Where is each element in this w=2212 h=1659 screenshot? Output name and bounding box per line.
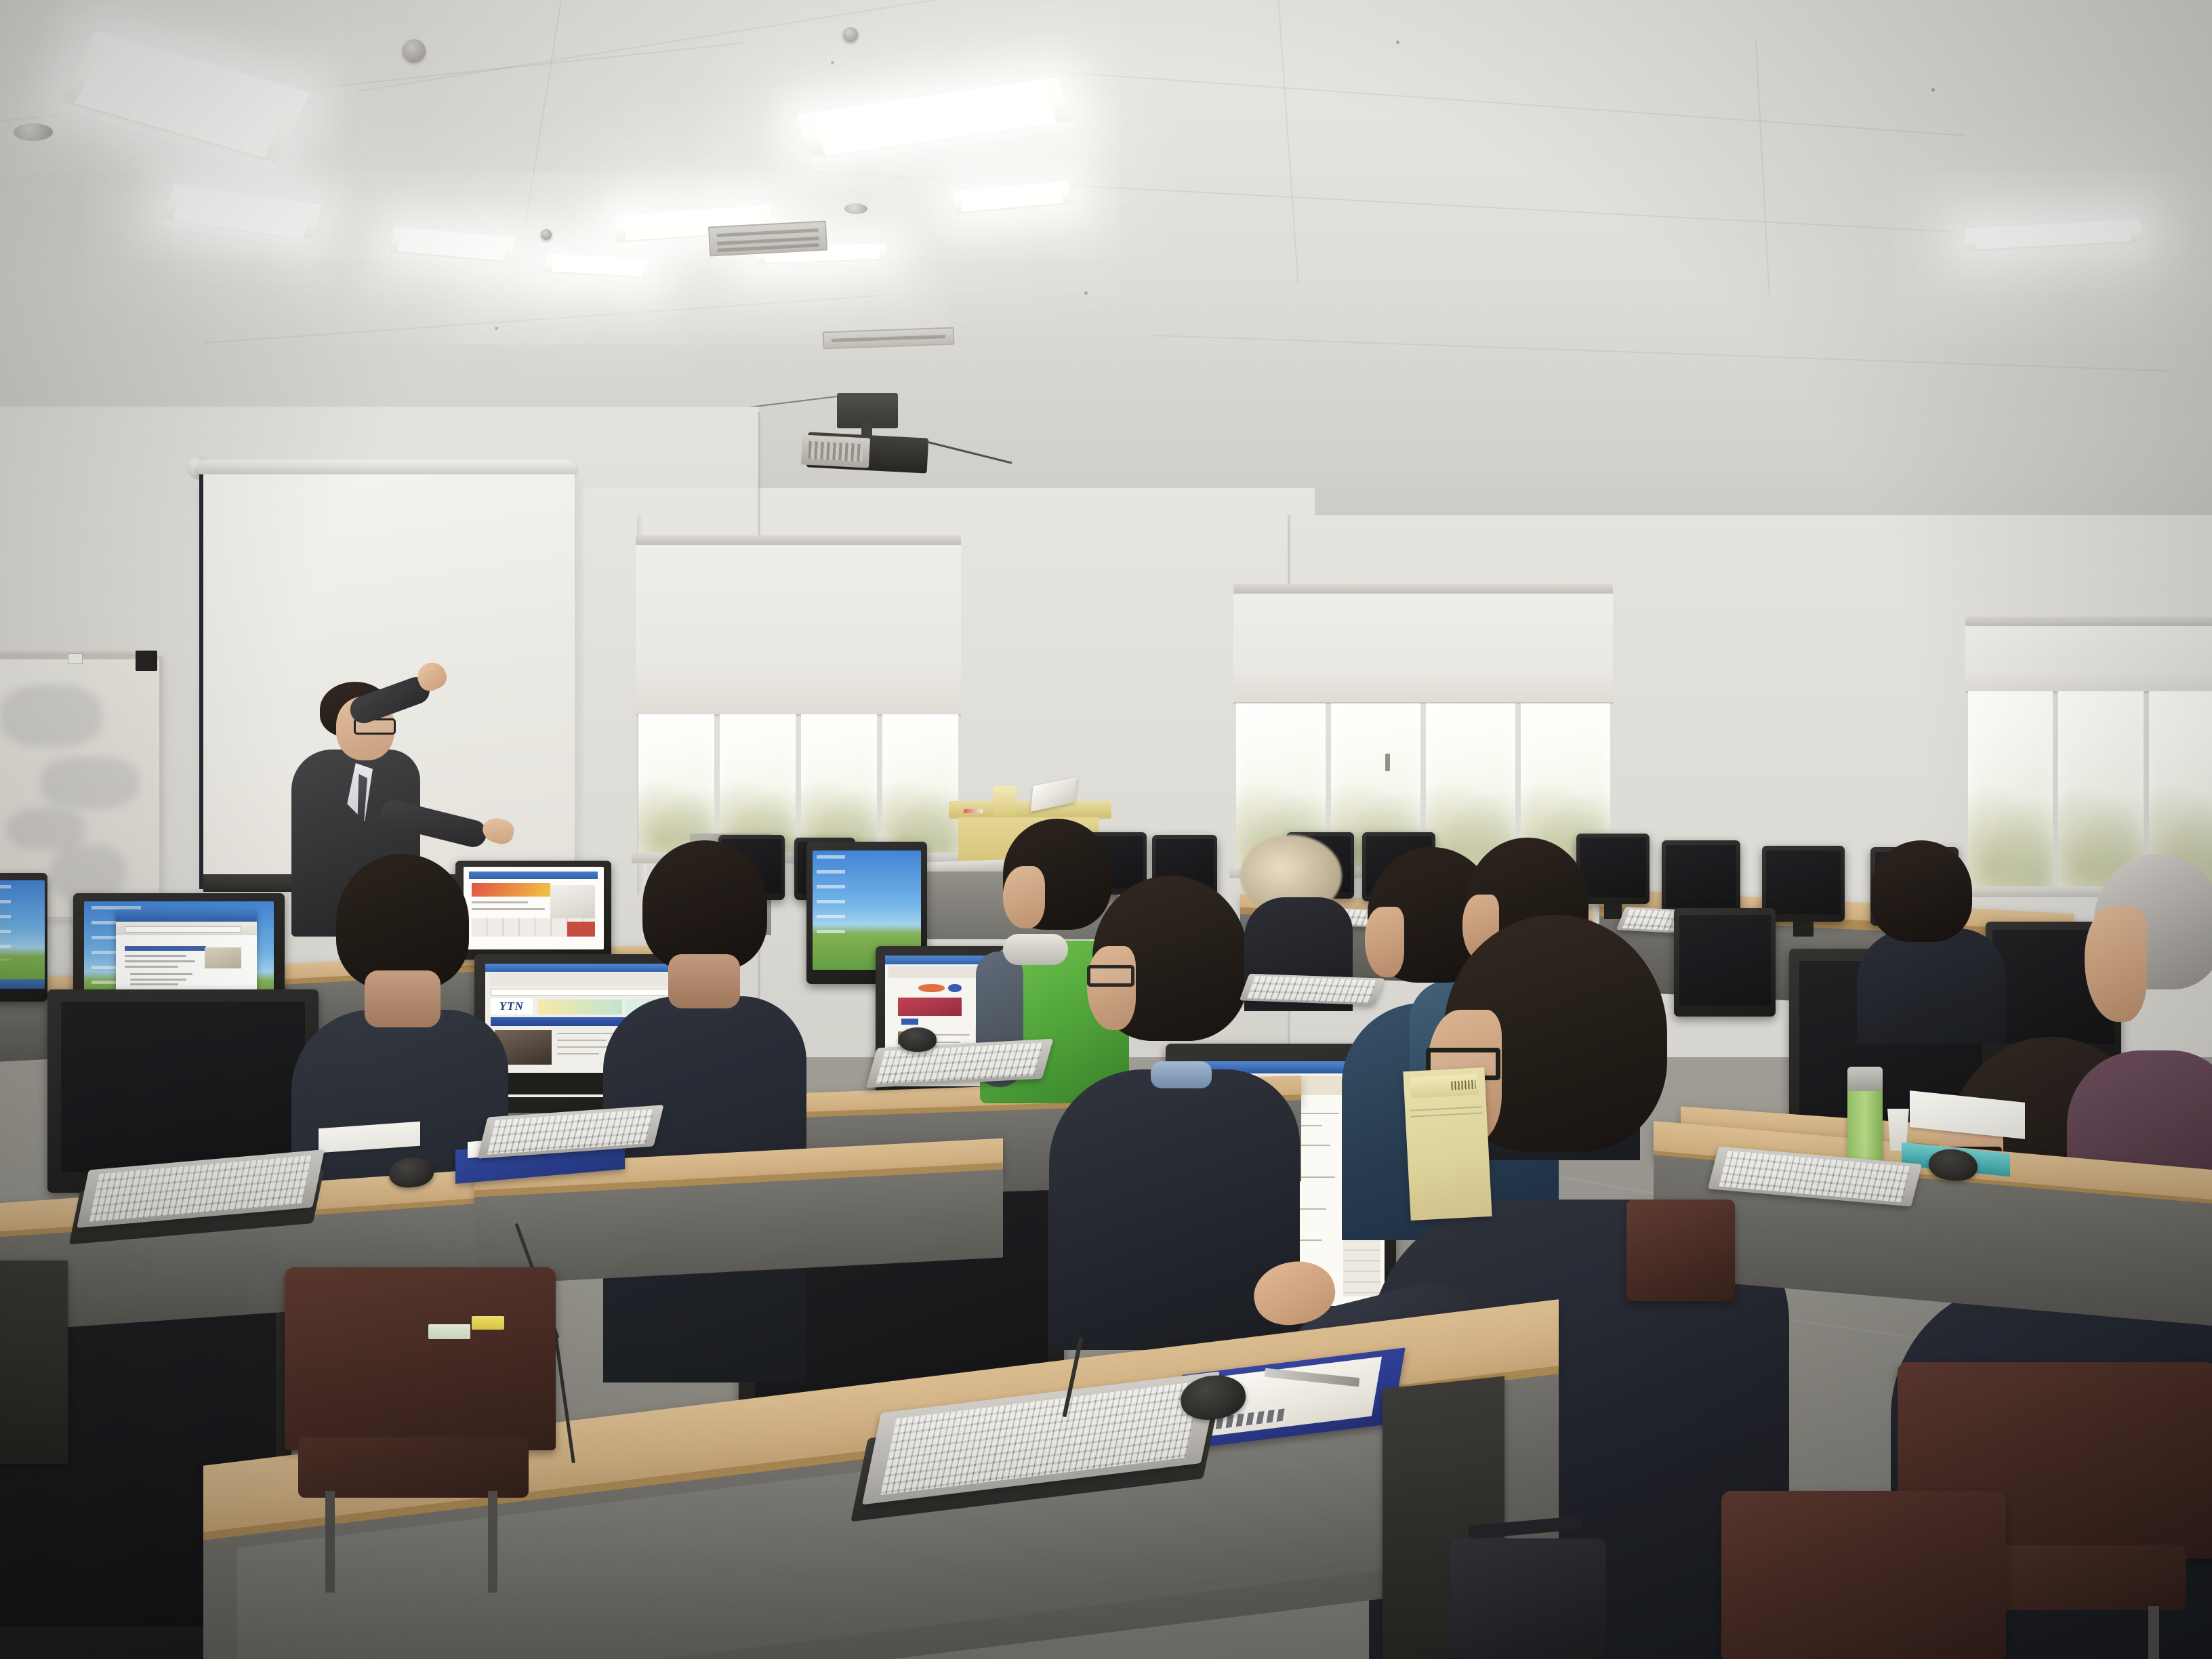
ceiling-light-5	[796, 77, 1073, 160]
chair-mid-right[interactable]	[1626, 1200, 1735, 1328]
monitor-xp-left[interactable]	[0, 873, 47, 1002]
podium-marker	[964, 809, 983, 813]
chair-legs	[488, 1491, 497, 1593]
green-thermos-tumbler[interactable]	[1847, 1067, 1883, 1162]
ceiling-light-2	[163, 184, 321, 242]
participant-second-left-hair	[642, 840, 767, 970]
window-latch[interactable]	[1385, 754, 1390, 771]
participant-center-dark-face	[1087, 946, 1136, 1030]
chair-legs	[325, 1491, 335, 1593]
participant-second-left-neck	[668, 954, 740, 1008]
ceiling-air-vent-2	[823, 327, 955, 350]
participant-back-row-hair	[1870, 840, 1972, 942]
window-pane	[801, 714, 877, 854]
monitor-back-5[interactable]	[1662, 840, 1740, 915]
participant-back-row-torso	[1857, 928, 2006, 1044]
window-pane	[882, 714, 958, 854]
smoke-detector-2	[844, 203, 867, 214]
screen-xp-desktop-left[interactable]	[0, 880, 45, 989]
participant-center-dark-glasses	[1087, 965, 1134, 987]
manila-envelope[interactable]	[1403, 1067, 1492, 1221]
projector-lens-housing	[801, 434, 870, 468]
window-roller-blind[interactable]	[636, 545, 961, 716]
ceiling-light-3	[390, 226, 516, 262]
instructor-pointing-hand	[480, 815, 516, 846]
mouse-ytn-desk[interactable]	[899, 1027, 937, 1052]
chair-legs	[2148, 1606, 2159, 1659]
ceiling-light-9	[1965, 219, 2142, 251]
participant-grey-hair-face	[2085, 907, 2147, 1022]
window-group-left	[636, 535, 961, 854]
chair-left-foreground[interactable]	[285, 1267, 556, 1593]
participant-green-vest-face	[1003, 866, 1045, 928]
participant-back-row	[1857, 840, 2013, 1044]
classroom-photo: YTN SAMSUNG SAMSUNG SAMS	[0, 0, 2212, 1659]
window-roller-blind[interactable]	[1233, 594, 1613, 704]
keyboard-mid-center[interactable]	[1240, 974, 1385, 1005]
whiteboard-clip	[68, 653, 83, 664]
ceiling-light-1	[60, 31, 310, 166]
sprinkler-head-2	[843, 27, 858, 42]
chair-bottom-right[interactable]	[1721, 1491, 2006, 1659]
chair-asset-tag-green	[428, 1324, 470, 1339]
chair-asset-tag-yellow	[472, 1316, 504, 1330]
window-group-center	[1233, 584, 1613, 869]
sprinkler-head-3	[541, 229, 552, 240]
ceiling-light-4	[546, 253, 648, 278]
participant-center-dark-collar	[1151, 1061, 1212, 1088]
pc-tower-left[interactable]	[0, 1261, 68, 1464]
ceiling-light-6	[954, 181, 1070, 214]
ceiling-projector	[796, 393, 932, 474]
sprinkler-head-1	[403, 39, 426, 62]
whiteboard-corner-bracket	[136, 651, 157, 671]
smoke-detector	[14, 123, 53, 141]
shoulder-bag[interactable]	[1450, 1538, 1606, 1659]
participant-front-left-neck	[365, 970, 441, 1027]
window-roller-blind[interactable]	[1965, 626, 2212, 693]
ceiling-air-vent	[708, 220, 827, 256]
participant-front-left-hair	[336, 854, 469, 989]
